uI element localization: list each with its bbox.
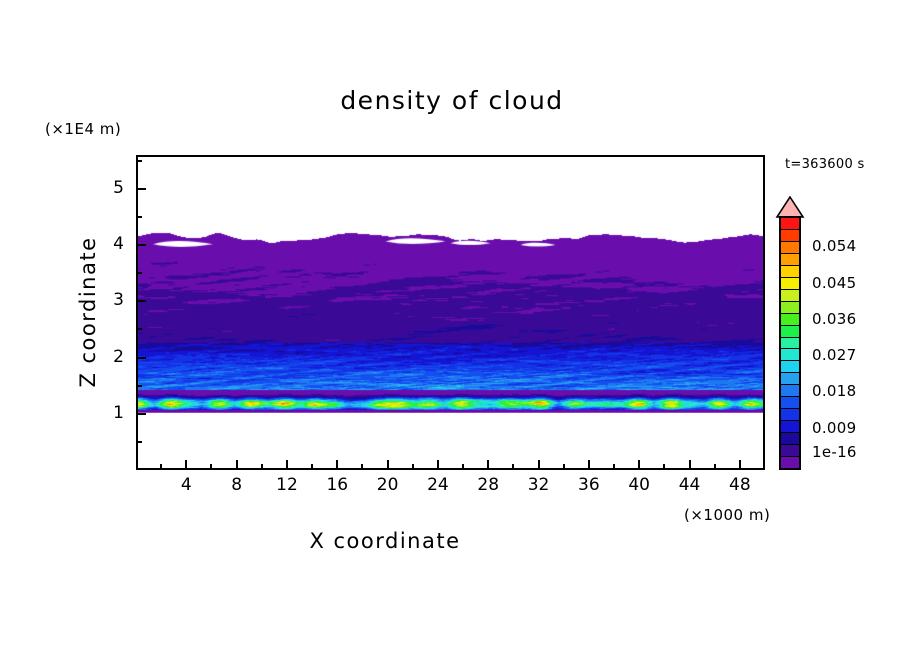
y-tick-label: 3 [94, 290, 124, 310]
colorbar-band [781, 409, 799, 421]
x-major-tick [336, 460, 338, 470]
y-minor-tick [136, 272, 142, 274]
x-minor-tick [663, 464, 665, 470]
x-major-tick [185, 460, 187, 470]
x-tick-label: 4 [166, 475, 206, 495]
x-minor-tick [512, 464, 514, 470]
x-major-tick [387, 460, 389, 470]
x-axis-title: X coordinate [0, 529, 770, 553]
y-minor-tick [136, 328, 142, 330]
y-tick-label: 2 [94, 347, 124, 367]
cloud-density-field [138, 157, 763, 468]
y-major-tick [136, 188, 146, 190]
x-major-tick [588, 460, 590, 470]
x-tick-label: 12 [267, 475, 307, 495]
colorbar-band [781, 326, 799, 338]
x-tick-label: 44 [670, 475, 710, 495]
x-minor-tick [714, 464, 716, 470]
x-major-tick [487, 460, 489, 470]
x-minor-tick [462, 464, 464, 470]
y-tick-label: 1 [94, 403, 124, 423]
colorbar-band [781, 302, 799, 314]
x-minor-tick [412, 464, 414, 470]
y-major-tick [136, 357, 146, 359]
figure-canvas: density of cloud (×1E4 m) t=363600 s (×1… [0, 0, 904, 654]
colorbar-band [781, 349, 799, 361]
x-major-tick [689, 460, 691, 470]
colorbar-tick-label: 0.027 [812, 346, 856, 364]
x-tick-label: 24 [418, 475, 458, 495]
colorbar-band [781, 338, 799, 350]
colorbar-band [781, 218, 799, 230]
colorbar-band [781, 397, 799, 409]
y-major-tick [136, 413, 146, 415]
x-tick-label: 20 [368, 475, 408, 495]
colorbar-tick-label: 1e-16 [812, 443, 857, 461]
colorbar-band [781, 314, 799, 326]
colorbar-band [781, 254, 799, 266]
colorbar-band [781, 230, 799, 242]
colorbar-band [781, 242, 799, 254]
x-tick-label: 8 [217, 475, 257, 495]
y-minor-tick [136, 160, 142, 162]
x-axis-unit-label: (×1000 m) [684, 506, 770, 524]
colorbar-tick-label: 0.045 [812, 274, 856, 292]
colorbar [779, 216, 801, 470]
colorbar-tick-label: 0.036 [812, 310, 856, 328]
x-tick-label: 16 [317, 475, 357, 495]
colorbar-band [781, 457, 799, 468]
x-tick-label: 48 [720, 475, 760, 495]
y-tick-label: 4 [94, 234, 124, 254]
x-major-tick [236, 460, 238, 470]
x-minor-tick [361, 464, 363, 470]
y-minor-tick [136, 441, 142, 443]
x-tick-label: 32 [519, 475, 559, 495]
x-minor-tick [261, 464, 263, 470]
colorbar-band [781, 421, 799, 433]
x-major-tick [638, 460, 640, 470]
z-axis-unit-label: (×1E4 m) [45, 120, 121, 138]
colorbar-tick-label: 0.054 [812, 237, 856, 255]
x-major-tick [286, 460, 288, 470]
x-minor-tick [613, 464, 615, 470]
colorbar-band [781, 385, 799, 397]
colorbar-band [781, 278, 799, 290]
time-annotation: t=363600 s [785, 157, 865, 172]
colorbar-band [781, 433, 799, 445]
x-major-tick [437, 460, 439, 470]
y-tick-label: 5 [94, 178, 124, 198]
x-major-tick [739, 460, 741, 470]
y-major-tick [136, 244, 146, 246]
x-minor-tick [563, 464, 565, 470]
colorbar-band [781, 361, 799, 373]
x-minor-tick [311, 464, 313, 470]
colorbar-over-cap [775, 196, 805, 218]
y-minor-tick [136, 385, 142, 387]
page-title: density of cloud [0, 86, 904, 115]
y-minor-tick [136, 216, 142, 218]
colorbar-tick-label: 0.009 [812, 419, 856, 437]
colorbar-band [781, 373, 799, 385]
y-major-tick [136, 300, 146, 302]
x-tick-label: 36 [569, 475, 609, 495]
colorbar-tick-label: 0.018 [812, 382, 856, 400]
plot-area [136, 155, 765, 470]
x-major-tick [538, 460, 540, 470]
x-tick-label: 40 [619, 475, 659, 495]
x-minor-tick [210, 464, 212, 470]
x-tick-label: 28 [468, 475, 508, 495]
colorbar-band [781, 290, 799, 302]
colorbar-band [781, 445, 799, 457]
x-minor-tick [160, 464, 162, 470]
colorbar-band [781, 266, 799, 278]
